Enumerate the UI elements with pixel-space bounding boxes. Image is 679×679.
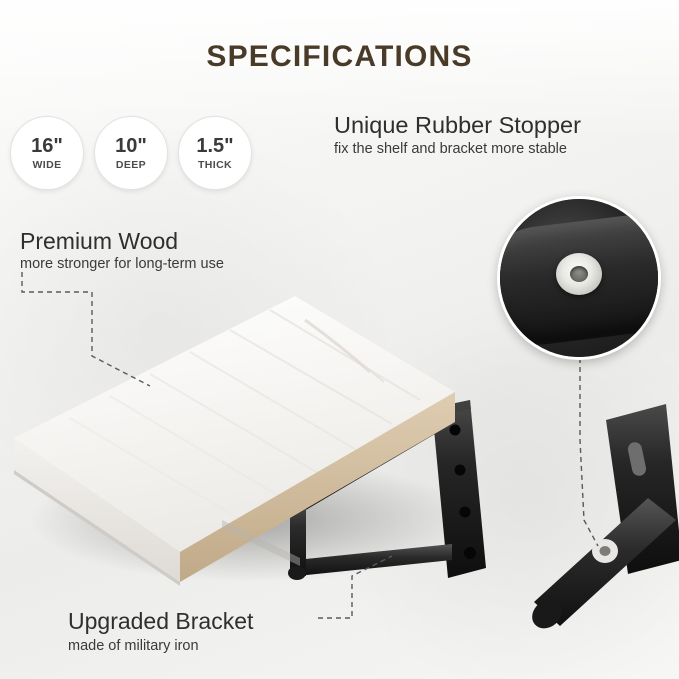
- badge-width-value: 16": [31, 136, 63, 156]
- leader-premium-wood: [22, 272, 150, 386]
- badge-width: 16" WIDE: [10, 116, 84, 190]
- badge-thickness-value: 1.5": [196, 136, 233, 156]
- metal-wall-bracket: [288, 400, 486, 580]
- leader-upgraded-bracket: [318, 556, 392, 618]
- leader-rubber-stopper: [580, 358, 598, 546]
- callout-rubber-stopper-heading: Unique Rubber Stopper: [334, 112, 581, 139]
- callout-rubber-stopper-sub: fix the shelf and bracket more stable: [334, 141, 567, 157]
- badge-depth-value: 10": [115, 136, 147, 156]
- badge-depth-label: DEEP: [116, 160, 146, 171]
- badge-thickness-label: THICK: [198, 160, 232, 171]
- badge-thickness: 1.5" THICK: [178, 116, 252, 190]
- floating-wood-shelf: [14, 296, 455, 586]
- callout-upgraded-bracket-sub: made of military iron: [68, 638, 199, 654]
- callout-premium-wood-heading: Premium Wood: [20, 228, 178, 255]
- product-infographic: SPECIFICATIONS 16" WIDE 10" DEEP 1.5" TH…: [0, 0, 679, 679]
- magnified-detail-circle: [497, 196, 661, 360]
- badge-depth: 10" DEEP: [94, 116, 168, 190]
- badge-width-label: WIDE: [32, 160, 61, 171]
- detached-bracket-rod: [526, 404, 679, 634]
- callout-premium-wood-sub: more stronger for long-term use: [20, 256, 224, 272]
- spec-badge-group: 16" WIDE 10" DEEP 1.5" THICK: [10, 116, 252, 190]
- zoom-inner-background: [500, 199, 658, 357]
- callout-upgraded-bracket-heading: Upgraded Bracket: [68, 608, 253, 635]
- rubber-stopper-icon: [556, 253, 602, 295]
- page-title: SPECIFICATIONS: [0, 40, 679, 74]
